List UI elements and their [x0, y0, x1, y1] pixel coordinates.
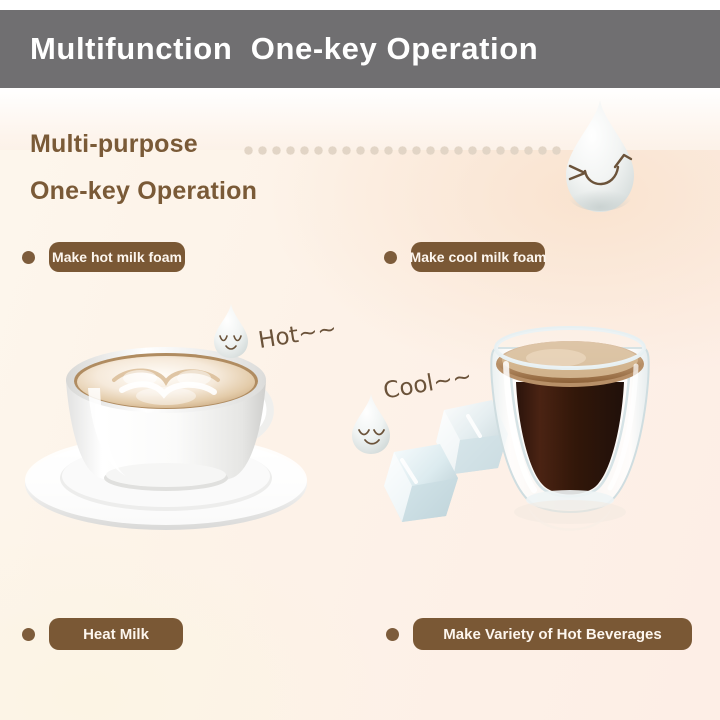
caption-label: Make hot milk foam [49, 242, 185, 272]
bullet-dot-icon [386, 628, 399, 641]
milk-foam-droplet-hot-icon [208, 302, 254, 360]
caption-heat-milk: Heat Milk [22, 618, 183, 650]
caption-make-variety-of-hot-beverages: Make Variety of Hot Beverages [386, 618, 692, 650]
product-feature-banner: Multifunction One-key Operation Multi-pu… [0, 0, 720, 720]
bullet-dot-icon [384, 251, 397, 264]
double-wall-glass-espresso-image [470, 320, 670, 570]
headline-line-1: Multi-purpose [30, 130, 198, 159]
dotted-divider [244, 146, 564, 155]
milk-foam-droplet-winking-icon [552, 97, 648, 215]
caption-label: Heat Milk [49, 618, 183, 650]
bullet-dot-icon [22, 251, 35, 264]
caption-make-hot-milk-foam: Make hot milk foam [22, 242, 185, 272]
caption-label: Make cool milk foam [411, 242, 545, 272]
bullet-dot-icon [22, 628, 35, 641]
headline-line-2: One-key Operation [30, 177, 257, 206]
caption-make-cool-milk-foam: Make cool milk foam [384, 242, 545, 272]
header-bar: Multifunction One-key Operation [0, 10, 720, 88]
caption-label: Make Variety of Hot Beverages [413, 618, 692, 650]
header-title: Multifunction One-key Operation [30, 31, 538, 67]
